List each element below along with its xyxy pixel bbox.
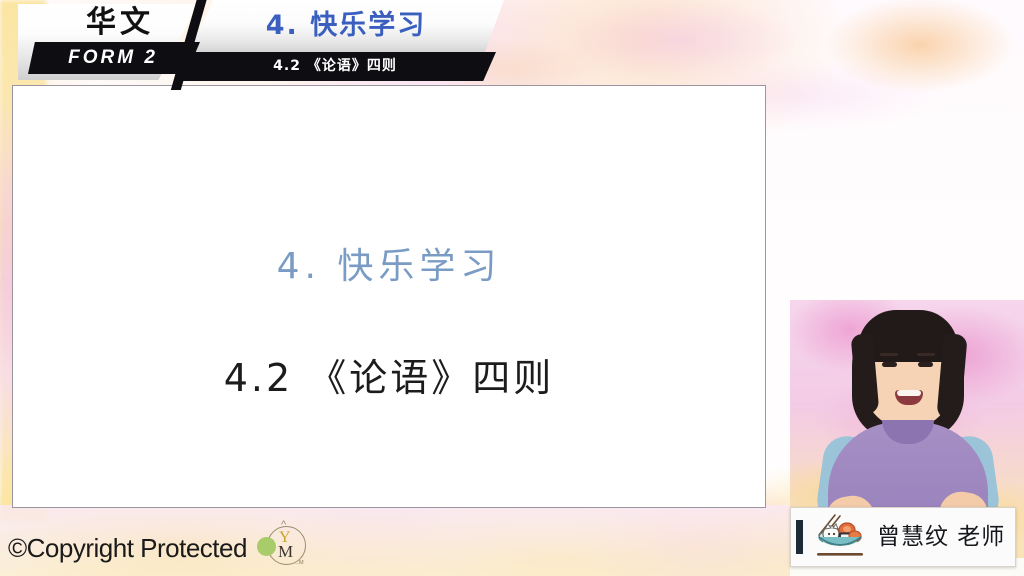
presenter-eye-right: [918, 362, 933, 367]
publisher-logo-subtext: ..м: [295, 559, 304, 566]
slide-content-panel: 4. 快乐学习 4.2 《论语》四则: [12, 85, 766, 508]
presenter-teeth: [897, 390, 921, 396]
presenter-eyebrow-right: [917, 353, 935, 356]
subject-logo: 华文 FORM 2: [12, 2, 207, 80]
logo-subject-label: 华文: [60, 6, 180, 40]
presenter-eye-left: [882, 362, 897, 367]
name-tag-accent-bar: [796, 520, 803, 554]
presenter-eyebrow-left: [880, 353, 898, 356]
copyright-notice: ©Copyright Protected ^ Y M ..м: [8, 523, 307, 573]
publisher-logo-icon: ^ Y M ..м: [255, 523, 307, 573]
ramen-bowl-icon: [809, 513, 871, 563]
slide-lesson-title: 4.2 《论语》四则: [13, 354, 765, 402]
copyright-text: ©Copyright Protected: [8, 533, 247, 564]
header-lesson-subtitle: 4.2 《论语》四则: [182, 55, 488, 78]
teacher-name-label: 曾慧纹 老师: [877, 517, 1011, 557]
publisher-logo-letter-m: M: [278, 543, 293, 560]
slide-chapter-title: 4. 快乐学习: [13, 244, 765, 290]
slide-stage: 华文 FORM 2 4. 快乐学习 4.2 《论语》四则 4. 快乐学习 4.2…: [0, 0, 1024, 576]
logo-form-label: FORM 2: [38, 46, 188, 70]
publisher-logo-green-dot: [257, 537, 276, 556]
header-chapter-title: 4. 快乐学习: [196, 8, 496, 44]
teacher-name-tag: 曾慧纹 老师: [790, 507, 1016, 567]
